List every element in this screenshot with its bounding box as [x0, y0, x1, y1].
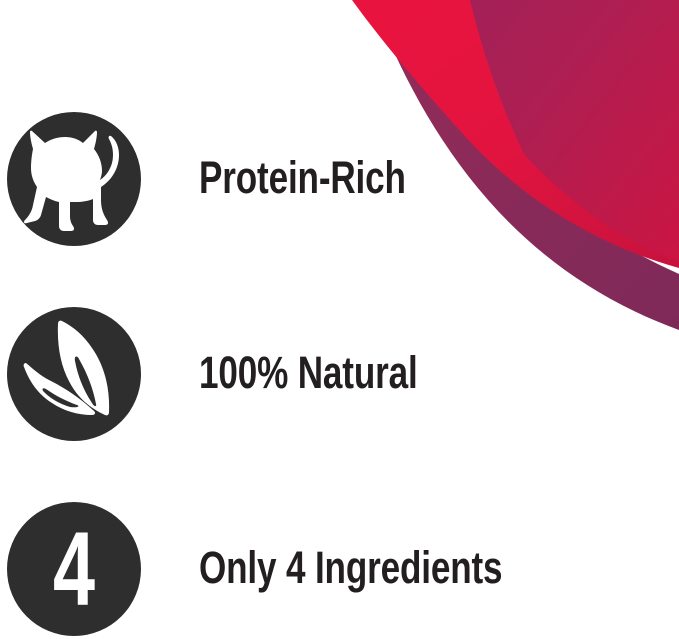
feature-row: 4 Only 4 Ingredients [0, 492, 679, 639]
feature-label: Protein-Rich [199, 155, 406, 200]
leaf-icon [4, 299, 142, 445]
number-four-glyph: 4 [53, 510, 95, 627]
badge-leaf [4, 299, 142, 445]
cat-icon [4, 104, 142, 250]
feature-label: 100% Natural [199, 350, 418, 395]
badge-number-four: 4 [4, 494, 142, 639]
badge-cat [4, 104, 142, 250]
number-four-icon: 4 [4, 494, 142, 639]
feature-label: Only 4 Ingredients [199, 545, 502, 590]
product-feature-panel: Protein-Rich 100% Natural 4 [0, 0, 679, 639]
feature-row: 100% Natural [0, 297, 679, 447]
feature-row: Protein-Rich [0, 102, 679, 252]
